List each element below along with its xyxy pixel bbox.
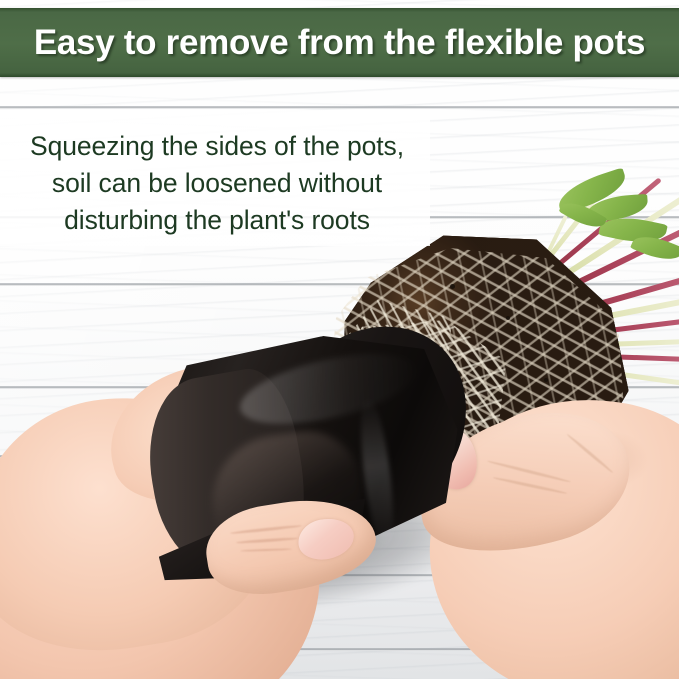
soil-speck — [450, 284, 455, 289]
body-copy-line-3: disturbing the plant's roots — [4, 202, 430, 239]
soil-speck — [506, 316, 510, 320]
body-copy-line-2: soil can be loosened without — [4, 165, 430, 202]
product-photo — [0, 0, 679, 679]
body-copy-line-1: Squeezing the sides of the pots, — [4, 128, 430, 165]
product-infographic: Easy to remove from the flexible pots Sq… — [0, 0, 679, 679]
banner-title: Easy to remove from the flexible pots — [34, 23, 645, 63]
body-copy: Squeezing the sides of the pots, soil ca… — [4, 128, 430, 239]
soil-speck — [544, 378, 548, 382]
header-banner: Easy to remove from the flexible pots — [0, 8, 679, 77]
